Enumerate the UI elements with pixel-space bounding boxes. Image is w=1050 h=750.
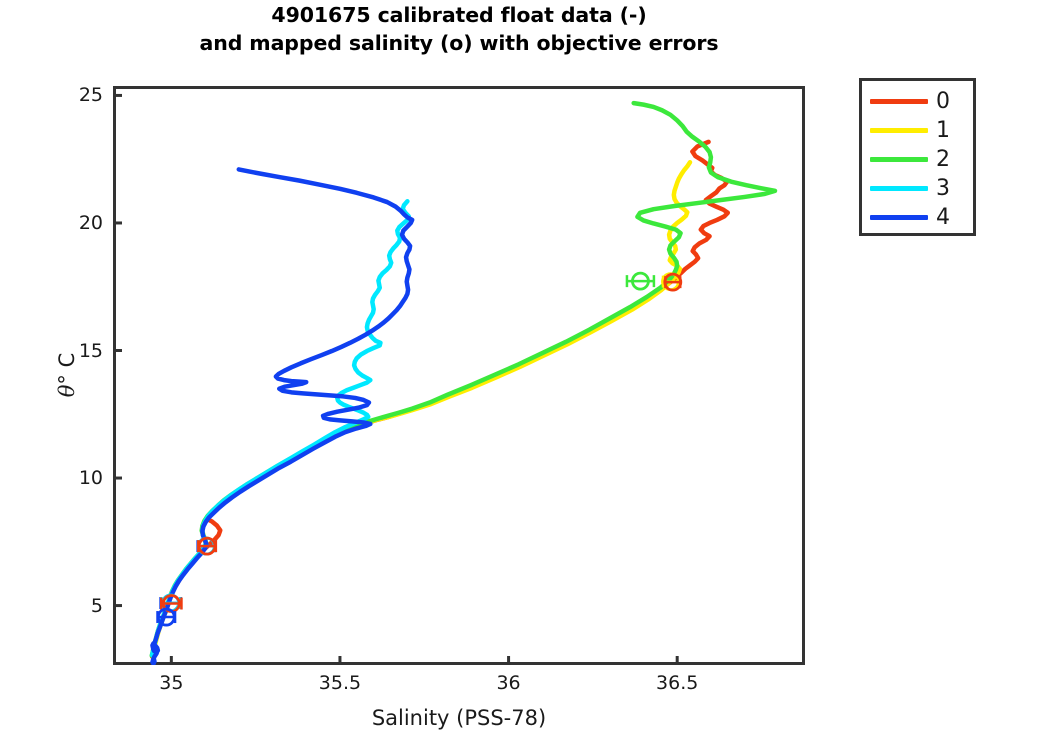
y-tick-label: 5 bbox=[55, 595, 103, 617]
x-tick-label: 35.5 bbox=[319, 672, 361, 694]
plot-area bbox=[113, 86, 805, 665]
x-axis-label: Salinity (PSS-78) bbox=[113, 706, 805, 730]
x-tick-label: 35 bbox=[159, 672, 183, 694]
x-tick-label: 36 bbox=[496, 672, 520, 694]
legend-entry-1[interactable]: 1 bbox=[862, 116, 973, 145]
legend-color-swatch bbox=[870, 99, 928, 104]
x-tick-label: 36.5 bbox=[656, 672, 698, 694]
legend-label: 3 bbox=[936, 178, 950, 200]
legend-label: 0 bbox=[936, 91, 950, 113]
y-tick-label: 25 bbox=[55, 84, 103, 106]
y-tick-label: 10 bbox=[55, 467, 103, 489]
figure-canvas: 4901675 calibrated float data (-) and ma… bbox=[0, 0, 1050, 750]
figure-title-line-1: 4901675 calibrated float data (-) bbox=[113, 2, 805, 30]
profile-line-4 bbox=[152, 169, 412, 663]
y-axis-unit: ° C bbox=[55, 353, 79, 385]
legend-entry-2[interactable]: 2 bbox=[862, 145, 973, 174]
legend-color-swatch bbox=[870, 128, 928, 133]
figure-title: 4901675 calibrated float data (-) and ma… bbox=[113, 2, 805, 57]
legend-color-swatch bbox=[870, 215, 928, 220]
legend-entry-3[interactable]: 3 bbox=[862, 174, 973, 203]
profile-line-1 bbox=[152, 162, 690, 656]
theta-symbol: θ bbox=[55, 385, 79, 398]
legend-entry-4[interactable]: 4 bbox=[862, 203, 973, 232]
figure-title-line-2: and mapped salinity (o) with objective e… bbox=[113, 30, 805, 58]
legend-color-swatch bbox=[870, 157, 928, 162]
profile-line-2 bbox=[152, 103, 775, 655]
mapped-salinity-marker bbox=[627, 273, 654, 289]
legend-label: 1 bbox=[936, 120, 950, 142]
legend: 01234 bbox=[859, 78, 976, 236]
legend-label: 2 bbox=[936, 149, 950, 171]
legend-entry-0[interactable]: 0 bbox=[862, 87, 973, 116]
legend-label: 4 bbox=[936, 207, 950, 229]
profile-line-3 bbox=[152, 201, 409, 655]
y-axis-label: θ° C bbox=[55, 315, 79, 435]
legend-color-swatch bbox=[870, 186, 928, 191]
y-tick-label: 20 bbox=[55, 212, 103, 234]
